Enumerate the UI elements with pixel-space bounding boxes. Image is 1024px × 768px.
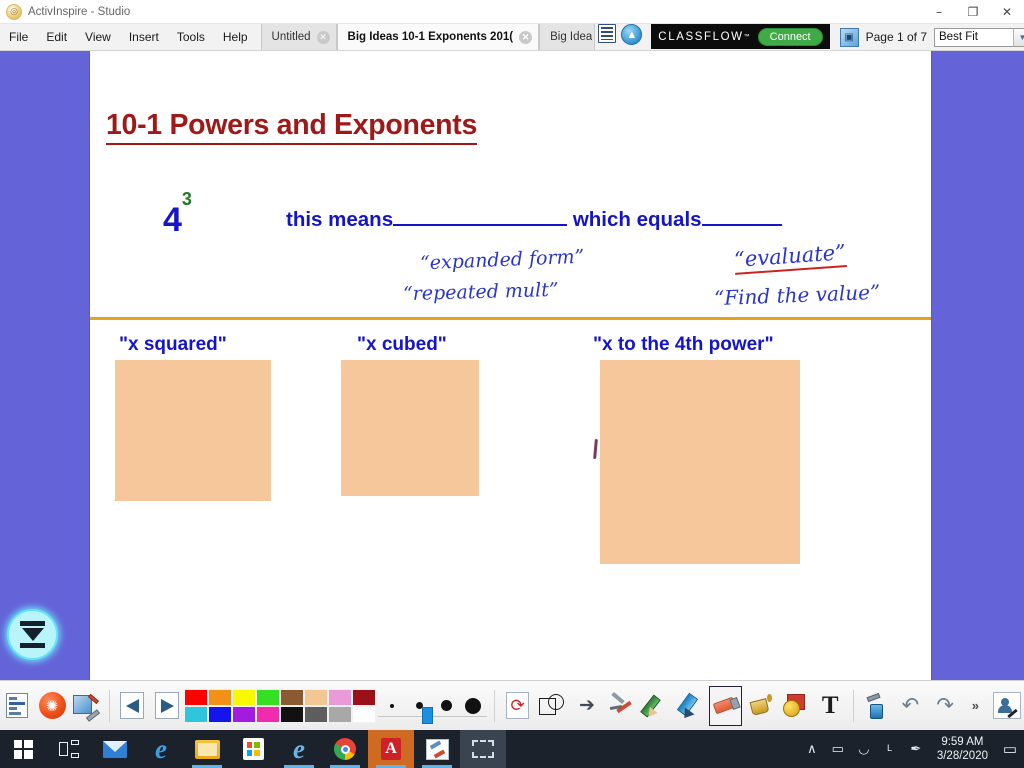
statement-line: this means which equals xyxy=(286,208,782,232)
text-button[interactable]: T xyxy=(814,686,847,726)
menu-and-tab-row: File Edit View Insert Tools Help Untitle… xyxy=(0,24,1024,51)
color-palette[interactable] xyxy=(184,689,376,723)
shape-fill-button[interactable] xyxy=(779,686,812,726)
menu-panel-icon xyxy=(6,693,28,718)
paint-bucket-icon xyxy=(748,693,774,718)
flipchart-page-canvas[interactable]: 10-1 Powers and Exponents 43 this means … xyxy=(90,51,931,730)
stray-ink-mark xyxy=(593,439,598,459)
clock-time: 9:59 AM xyxy=(937,735,988,749)
highlighter-button[interactable] xyxy=(675,686,708,726)
reset-page-button[interactable]: ⟳ xyxy=(501,686,534,726)
classflow-connect-button[interactable]: Connect xyxy=(758,28,823,46)
pen-width-slider-handle[interactable] xyxy=(422,707,433,724)
tab-label: Big Ideas 10-1 Exponents 201( xyxy=(348,31,514,43)
eraser-icon xyxy=(712,695,740,717)
maximize-button[interactable]: ❐ xyxy=(956,0,990,24)
presentation-tools-button[interactable] xyxy=(990,686,1023,726)
ink-note-repeated-mult: “repeated mult” xyxy=(403,279,559,305)
title-bar: ◎ ActivInspire - Studio – ❐ ✕ xyxy=(0,0,1024,24)
statement-this-means: this means xyxy=(286,208,393,231)
funnel-collapse-icon xyxy=(20,621,45,648)
shapes-icon xyxy=(539,694,565,718)
desktop: ◎ ActivInspire - Studio – ❐ ✕ File Edit … xyxy=(0,0,1024,768)
statement-which-equals: which equals xyxy=(573,208,702,231)
column-label-x-cubed: "x cubed" xyxy=(357,334,447,356)
mail-icon xyxy=(103,741,127,758)
microsoft-store-app[interactable] xyxy=(230,730,276,768)
properties-menu-button[interactable] xyxy=(1,686,34,726)
tab-big-ideas-10-1-exponents[interactable]: Big Ideas 10-1 Exponents 201( ✕ xyxy=(337,24,540,50)
shapes-button[interactable] xyxy=(536,686,569,726)
document-icon[interactable] xyxy=(598,24,616,43)
color-swatch-cyan[interactable] xyxy=(184,706,208,723)
task-view-button[interactable] xyxy=(46,730,92,768)
expression-exponent: 3 xyxy=(182,189,192,209)
battery-icon[interactable]: ▭ xyxy=(825,741,851,757)
snip-selection-icon xyxy=(472,740,494,758)
page-thumbnail-icon[interactable]: ▣ xyxy=(840,28,859,47)
start-button[interactable] xyxy=(0,730,46,768)
color-swatch-orange[interactable] xyxy=(208,689,232,706)
flipchart-tabstrip: Untitled ✕ Big Ideas 10-1 Exponents 201(… xyxy=(261,24,596,50)
chevron-double-right-icon: » xyxy=(972,698,979,713)
color-swatch-magenta[interactable] xyxy=(256,706,280,723)
previous-page-button[interactable] xyxy=(116,686,149,726)
activinspire-app[interactable] xyxy=(414,730,460,768)
color-swatch-brown[interactable] xyxy=(280,689,304,706)
page-indicator: Page 1 of 7 xyxy=(859,30,934,44)
blank-line-2 xyxy=(702,224,782,226)
windows-taskbar: e e A ∧ ▭ ◡ ᴸ ✒ 9:59 AM xyxy=(0,730,1024,768)
divider xyxy=(109,690,110,722)
color-swatch-green[interactable] xyxy=(256,689,280,706)
internet-explorer-icon: e xyxy=(293,736,305,763)
refresh-page-icon: ⟳ xyxy=(506,692,529,719)
folder-icon xyxy=(195,740,220,759)
pen-width-xs[interactable] xyxy=(380,696,404,716)
rocket-icon[interactable]: ▲ xyxy=(621,24,642,45)
volume-icon[interactable]: ᴸ xyxy=(877,742,903,757)
ink-note-evaluate-text: “evaluate” xyxy=(733,240,847,275)
store-icon xyxy=(243,738,264,760)
magic-ink-button[interactable]: ✺ xyxy=(36,686,69,726)
trademark-symbol: ™ xyxy=(744,34,750,40)
tab-untitled[interactable]: Untitled ✕ xyxy=(261,24,337,50)
color-swatch-black[interactable] xyxy=(280,706,304,723)
zoom-level-value: Best Fit xyxy=(939,31,978,43)
clock-date: 3/28/2020 xyxy=(937,749,988,763)
menu-tools[interactable]: Tools xyxy=(168,24,214,50)
menu-view[interactable]: View xyxy=(76,24,120,50)
color-swatch-blue[interactable] xyxy=(208,706,232,723)
menu-insert[interactable]: Insert xyxy=(120,24,168,50)
color-swatch-purple[interactable] xyxy=(232,706,256,723)
arrow-left-page-icon xyxy=(120,692,144,719)
tab-label: Untitled xyxy=(272,31,311,43)
tools-icon xyxy=(73,693,100,718)
mail-app[interactable] xyxy=(92,730,138,768)
color-swatch-dark-red[interactable] xyxy=(352,689,376,706)
edge-icon: e xyxy=(155,736,167,763)
classflow-brand: CLASSFLOW xyxy=(658,31,743,43)
color-swatch-yellow[interactable] xyxy=(232,689,256,706)
window-controls: – ❐ ✕ xyxy=(922,0,1024,24)
column-label-x-4th-power: "x to the 4th power" xyxy=(593,334,774,356)
internet-explorer-app[interactable]: e xyxy=(276,730,322,768)
close-button[interactable]: ✕ xyxy=(990,0,1024,24)
next-page-button[interactable] xyxy=(151,686,184,726)
redo-arrow-icon: ↷ xyxy=(936,693,954,718)
ink-note-find-the-value: “Find the value” xyxy=(714,280,881,310)
menu-help[interactable]: Help xyxy=(214,24,257,50)
adobe-acrobat-icon: A xyxy=(381,738,401,760)
activinspire-icon xyxy=(426,739,449,760)
windows-logo-icon xyxy=(14,740,33,759)
snipping-tool-app[interactable] xyxy=(460,730,506,768)
clear-button[interactable] xyxy=(605,686,638,726)
classflow-bar: CLASSFLOW ™ Connect xyxy=(651,24,829,49)
divider xyxy=(853,690,854,722)
close-icon[interactable]: ✕ xyxy=(519,31,532,44)
spray-button[interactable] xyxy=(859,686,892,726)
menu-edit[interactable]: Edit xyxy=(37,24,76,50)
pen-width-l[interactable] xyxy=(461,696,485,716)
pen-button[interactable] xyxy=(640,686,673,726)
ink-note-expanded-form: “expanded form” xyxy=(420,246,585,275)
clear-tools-icon xyxy=(609,694,635,718)
color-swatch-red[interactable] xyxy=(184,689,208,706)
zoom-level-select[interactable]: Best Fit ▼ xyxy=(934,28,1024,47)
select-button[interactable]: ➔ xyxy=(571,686,604,726)
expression-base: 4 xyxy=(163,201,182,239)
color-swatch-gray[interactable] xyxy=(328,706,352,723)
edge-app[interactable]: e xyxy=(138,730,184,768)
color-swatch-white[interactable] xyxy=(352,706,376,723)
main-toolbar: ✺ xyxy=(0,680,1024,730)
color-swatch-peach[interactable] xyxy=(304,689,328,706)
pen-width-selector[interactable] xyxy=(376,686,489,726)
chrome-app[interactable] xyxy=(322,730,368,768)
shape-color-icon xyxy=(782,693,809,718)
user-pen-icon xyxy=(993,692,1021,719)
arrow-right-page-icon xyxy=(155,692,179,719)
pen-icon xyxy=(643,693,670,719)
menu-file[interactable]: File xyxy=(0,24,37,50)
pen-input-icon[interactable]: ✒ xyxy=(903,741,929,757)
collapse-toolbar-button[interactable] xyxy=(7,609,58,660)
activinspire-window: ◎ ActivInspire - Studio – ❐ ✕ File Edit … xyxy=(0,0,1024,730)
divider xyxy=(494,690,495,722)
highlighter-icon xyxy=(678,693,705,719)
eraser-button[interactable] xyxy=(709,686,742,726)
undo-button[interactable]: ↶ xyxy=(894,686,927,726)
acrobat-reader-app[interactable]: A xyxy=(368,730,414,768)
file-explorer-app[interactable] xyxy=(184,730,230,768)
tab-big-ideas-secondary[interactable]: Big Idea xyxy=(539,24,595,50)
more-tools-button[interactable]: » xyxy=(963,686,989,726)
answer-box-x-squared[interactable] xyxy=(115,360,271,501)
ink-note-evaluate: “evaluate” xyxy=(733,240,846,272)
horizontal-divider xyxy=(90,317,931,320)
redo-button[interactable]: ↷ xyxy=(929,686,962,726)
close-icon[interactable]: ✕ xyxy=(317,31,330,44)
fill-button[interactable] xyxy=(744,686,777,726)
spray-bottle-icon xyxy=(864,693,888,719)
tab-label: Big Idea xyxy=(550,31,592,43)
color-swatch-pink[interactable] xyxy=(328,689,352,706)
system-tray: ∧ ▭ ◡ ᴸ ✒ 9:59 AM 3/28/2020 ▭ xyxy=(799,730,1024,768)
column-label-x-squared: "x squared" xyxy=(119,334,227,356)
window-title: ActivInspire - Studio xyxy=(28,6,130,18)
task-view-icon xyxy=(59,740,79,758)
text-T-icon: T xyxy=(822,693,839,718)
tool-options-button[interactable] xyxy=(70,686,103,726)
undo-arrow-icon: ↶ xyxy=(902,693,920,718)
cursor-arrow-icon: ➔ xyxy=(579,694,595,717)
blank-line-1 xyxy=(393,224,567,226)
color-swatch-dark-gray[interactable] xyxy=(304,706,328,723)
exponent-expression: 43 xyxy=(163,201,192,240)
wifi-icon[interactable]: ◡ xyxy=(851,741,877,757)
answer-box-x-4th-power[interactable] xyxy=(600,360,800,564)
clock[interactable]: 9:59 AM 3/28/2020 xyxy=(929,735,996,764)
action-center-button[interactable]: ▭ xyxy=(996,740,1024,758)
flipchart-work-area[interactable]: 10-1 Powers and Exponents 43 this means … xyxy=(0,51,1024,730)
pen-width-m[interactable] xyxy=(434,696,458,716)
red-magic-wand-icon: ✺ xyxy=(39,692,66,719)
activinspire-logo-icon: ◎ xyxy=(6,4,22,20)
chevron-down-icon[interactable]: ▼ xyxy=(1013,29,1024,46)
page-title: 10-1 Powers and Exponents xyxy=(106,109,477,145)
minimize-button[interactable]: – xyxy=(922,0,956,24)
answer-box-x-cubed[interactable] xyxy=(341,360,479,496)
chrome-icon xyxy=(334,738,356,760)
show-hidden-icons[interactable]: ∧ xyxy=(799,741,825,757)
